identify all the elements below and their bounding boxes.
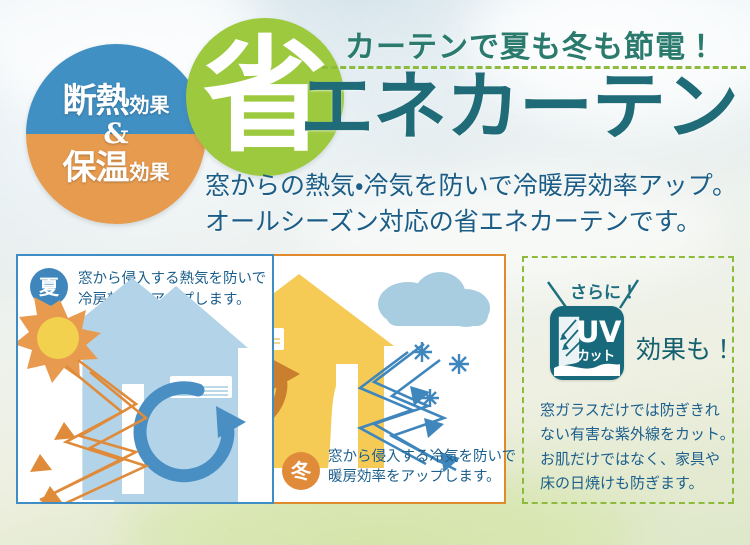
winter-description: 窓から侵入する冷気を防いで 暖房効率をアップします。 <box>328 447 516 488</box>
summer-badge-label: 夏 <box>39 277 59 297</box>
house-icon <box>274 274 394 468</box>
snowflake-icon <box>412 342 469 407</box>
badge-text-stack: 断熱 効果 & 保温 効果 <box>26 44 206 224</box>
promo-banner: 断熱 効果 & 保温 効果 省 カーテンで夏も冬も節電！ エネカーテン 窓からの… <box>0 0 750 545</box>
uv-cut-badge: UV カット <box>550 306 624 380</box>
insulation-label: 断熱 <box>63 84 129 118</box>
badge-line-insulation: 断熱 効果 <box>63 84 170 118</box>
sarani-callout: さらに！ <box>570 278 638 303</box>
window-shape <box>122 384 144 494</box>
winter-description-line-2: 暖房効率をアップします。 <box>328 467 516 488</box>
subtitle-line-1: 窓からの熱気・冷気を防いで冷暖房効率アップ。 <box>205 168 737 204</box>
winter-badge: 冬 <box>282 452 320 490</box>
circular-arrow-icon <box>140 388 246 476</box>
uv-description-line-3: お肌だけではなく、家具や <box>540 447 735 471</box>
curtain-shape <box>136 384 144 494</box>
heat-ray-arrows-icon <box>40 360 146 502</box>
ampersand-symbol: & <box>103 120 128 148</box>
tagline: カーテンで夏も冬も節電！ <box>345 22 717 66</box>
air-conditioner-icon <box>274 328 284 350</box>
summer-panel: 夏 窓から侵入する熱気を防いで 冷房効率をアップします。 <box>16 254 274 504</box>
uv-panel: さらに！ UV カット 効 <box>522 256 734 504</box>
heat-ray-arrowheads <box>30 422 76 502</box>
summer-description-line-1: 窓から侵入する熱気を防いで <box>78 269 266 290</box>
product-title: エネカーテン <box>300 70 738 144</box>
summer-description-line-2: 冷房効率をアップします。 <box>78 290 266 311</box>
winter-description-line-1: 窓から侵入する冷気を防いで <box>328 447 516 468</box>
circular-arrow-icon <box>274 340 300 428</box>
uv-description-line-1: 窓ガラスだけでは防ぎきれ <box>540 398 735 422</box>
subtitle-line-2: オールシーズン対応の省エネカーテンです。 <box>205 204 737 240</box>
insulation-warmth-badge: 断熱 効果 & 保温 効果 <box>26 44 206 224</box>
uv-description: 窓ガラスだけでは防ぎきれ ない有害な紫外線をカット。 お肌だけではなく、家具や … <box>540 398 735 495</box>
subtitle: 窓からの熱気・冷気を防いで冷暖房効率アップ。 オールシーズン対応の省エネカーテン… <box>205 168 737 239</box>
uv-description-line-2: ない有害な紫外線をカット。 <box>540 422 735 446</box>
insulation-effect-label: 効果 <box>130 95 170 115</box>
winter-panel: 冬 窓から侵入する冷気を防いで 暖房効率をアップします。 <box>274 254 506 504</box>
uv-effect-label: 効果も！ <box>636 330 736 366</box>
house-icon <box>40 278 248 502</box>
summer-badge: 夏 <box>30 268 68 306</box>
uv-description-line-4: 床の日焼けも防ぎます。 <box>540 471 735 495</box>
winter-badge-label: 冬 <box>291 461 311 481</box>
uv-badge-main-label: UV <box>576 318 621 347</box>
air-conditioner-icon <box>170 376 232 398</box>
uv-badge-sub-label: カット <box>577 350 615 363</box>
summer-description: 窓から侵入する熱気を防いで 冷房効率をアップします。 <box>78 269 266 310</box>
badge-line-warmth: 保温 効果 <box>63 151 170 185</box>
warmth-label: 保温 <box>63 151 129 185</box>
warmth-effect-label: 効果 <box>130 162 170 182</box>
cloud-icon <box>378 272 490 327</box>
